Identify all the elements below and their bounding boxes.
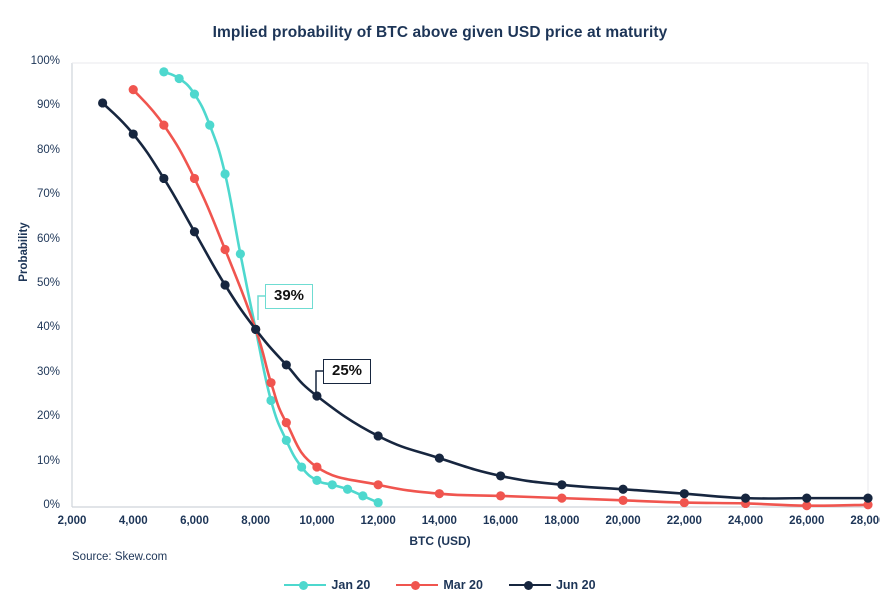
data-point [159, 67, 168, 76]
data-point [741, 494, 750, 503]
data-point [129, 129, 138, 138]
data-point [557, 480, 566, 489]
data-point [496, 471, 505, 480]
data-point [220, 280, 229, 289]
legend-swatch-icon [396, 579, 438, 591]
legend-item-mar-20[interactable]: Mar 20 [396, 578, 483, 592]
legend-item-jan-20[interactable]: Jan 20 [284, 578, 370, 592]
data-point [220, 169, 229, 178]
data-point [282, 360, 291, 369]
annotation-callout: 25% [323, 359, 371, 384]
data-point [435, 454, 444, 463]
chart-container: Implied probability of BTC above given U… [0, 0, 880, 607]
data-point [297, 462, 306, 471]
data-point [802, 494, 811, 503]
series-line [133, 90, 868, 506]
data-point [863, 494, 872, 503]
data-point [557, 494, 566, 503]
series-mar-20 [129, 85, 873, 510]
legend-label: Mar 20 [443, 578, 483, 592]
data-point [374, 498, 383, 507]
data-point [175, 74, 184, 83]
series-line [103, 103, 868, 499]
chart-legend: Jan 20Mar 20Jun 20 [0, 578, 880, 592]
data-point [98, 98, 107, 107]
series-jun-20 [98, 98, 873, 502]
legend-swatch-icon [509, 579, 551, 591]
plot-area [0, 0, 880, 607]
data-point [618, 496, 627, 505]
data-point [680, 489, 689, 498]
data-point [251, 325, 260, 334]
data-point [266, 378, 275, 387]
data-point [129, 85, 138, 94]
data-point [680, 498, 689, 507]
data-point [236, 249, 245, 258]
data-point [358, 491, 367, 500]
data-point [282, 436, 291, 445]
data-point [282, 418, 291, 427]
data-point [312, 476, 321, 485]
data-point [312, 462, 321, 471]
data-point [328, 480, 337, 489]
data-point [435, 489, 444, 498]
annotation-leader-line [316, 371, 323, 393]
data-point [190, 89, 199, 98]
data-point [159, 121, 168, 130]
data-point [205, 121, 214, 130]
data-point [220, 245, 229, 254]
legend-item-jun-20[interactable]: Jun 20 [509, 578, 596, 592]
annotation-leader-line [258, 296, 265, 320]
legend-swatch-icon [284, 579, 326, 591]
legend-label: Jan 20 [331, 578, 370, 592]
annotation-callout: 39% [265, 284, 313, 309]
data-point [374, 480, 383, 489]
legend-label: Jun 20 [556, 578, 596, 592]
data-point [190, 227, 199, 236]
data-point [159, 174, 168, 183]
data-point [312, 391, 321, 400]
data-point [343, 485, 352, 494]
data-point [618, 485, 627, 494]
data-point [190, 174, 199, 183]
data-point [496, 491, 505, 500]
data-point [374, 431, 383, 440]
